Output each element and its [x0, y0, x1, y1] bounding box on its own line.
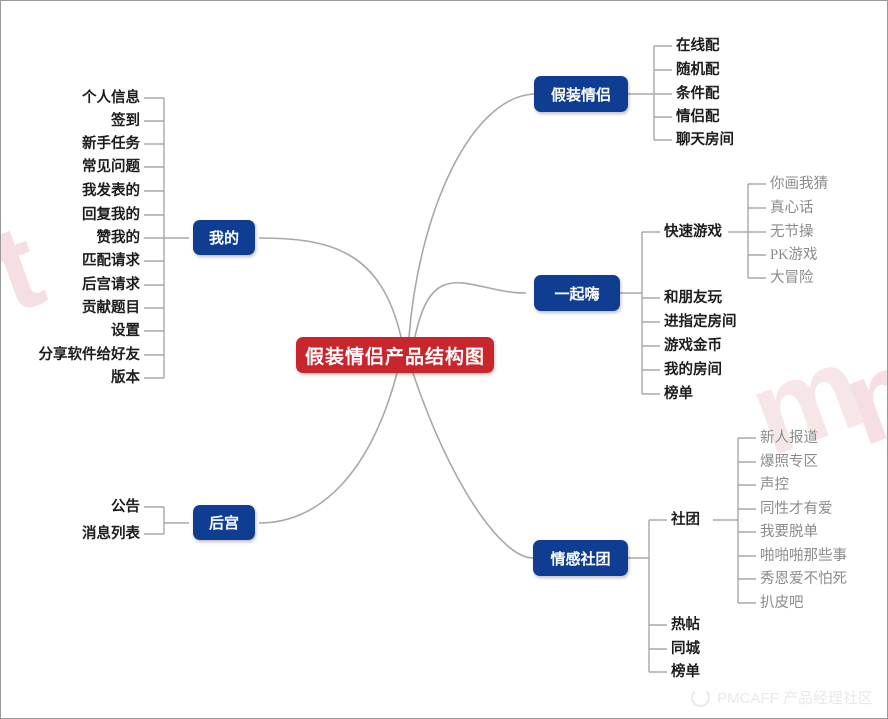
leaf-item[interactable]: 后宫请求: [82, 278, 140, 293]
sub-leaf-item[interactable]: 秀恩爱不怕死: [760, 572, 847, 587]
leaf-item[interactable]: 社团: [671, 513, 700, 528]
circle-logo-icon: [691, 688, 710, 707]
leaf-item[interactable]: 榜单: [664, 387, 693, 402]
leaf-item[interactable]: 签到: [111, 114, 140, 129]
leaf-item[interactable]: 个人信息: [82, 91, 140, 106]
leaf-item[interactable]: 我发表的: [82, 184, 140, 199]
leaf-item[interactable]: 设置: [111, 324, 140, 339]
sub-leaf-item[interactable]: PK游戏: [770, 248, 818, 263]
sub-leaf-item[interactable]: 爆照专区: [760, 455, 818, 470]
leaf-item[interactable]: 游戏金币: [664, 339, 722, 354]
leaf-item[interactable]: 进指定房间: [664, 315, 737, 330]
sub-leaf-item[interactable]: 大冒险: [770, 271, 814, 286]
sub-leaf-item[interactable]: 同性才有爱: [760, 502, 833, 517]
leaf-item[interactable]: 条件配: [676, 87, 720, 102]
branch-node-hougong[interactable]: 后宫: [193, 505, 255, 540]
leaf-item[interactable]: 常见问题: [82, 160, 140, 175]
sub-leaf-item[interactable]: 我要脱单: [760, 525, 818, 540]
leaf-item[interactable]: 同城: [671, 642, 700, 657]
leaf-item[interactable]: 版本: [111, 371, 140, 386]
branch-node-label: 情感社团: [550, 548, 610, 569]
leaf-item[interactable]: 聊天房间: [676, 133, 734, 148]
leaf-item[interactable]: 随机配: [676, 63, 720, 78]
leaf-item[interactable]: 匹配请求: [82, 254, 140, 269]
leaf-item[interactable]: 消息列表: [82, 527, 140, 542]
leaf-item[interactable]: 分享软件给好友: [39, 348, 141, 363]
leaf-item[interactable]: 贡献题目: [82, 301, 140, 316]
branch-node-label: 我的: [209, 227, 239, 248]
branch-node-label: 一起嗨: [554, 283, 599, 304]
branch-node-label: 假装情侣: [551, 84, 611, 105]
leaf-item[interactable]: 快速游戏: [664, 225, 722, 240]
sub-leaf-item[interactable]: 啪啪啪那些事: [760, 549, 847, 564]
branch-node-wode[interactable]: 我的: [193, 220, 255, 255]
footer-brand: PMCAFF 产品经理社区: [691, 687, 873, 708]
leaf-item[interactable]: 回复我的: [82, 208, 140, 223]
branch-node-qingganshetuan[interactable]: 情感社团: [533, 540, 628, 576]
footer-brand-label: PMCAFF 产品经理社区: [717, 687, 873, 708]
mindmap-canvas: t m m: [0, 0, 888, 719]
sub-leaf-item[interactable]: 无节操: [770, 225, 814, 240]
branch-node-label: 后宫: [209, 512, 239, 533]
sub-leaf-item[interactable]: 你画我猜: [770, 177, 828, 192]
leaf-item[interactable]: 榜单: [671, 665, 700, 680]
sub-leaf-item[interactable]: 新人报道: [760, 431, 818, 446]
branch-node-jiazhuangqinglv[interactable]: 假装情侣: [534, 76, 628, 112]
root-node-label: 假装情侣产品结构图: [305, 342, 485, 369]
leaf-item[interactable]: 和朋友玩: [664, 291, 722, 306]
leaf-item[interactable]: 新手任务: [82, 137, 140, 152]
sub-leaf-item[interactable]: 声控: [760, 478, 789, 493]
sub-leaf-item[interactable]: 真心话: [770, 201, 814, 216]
leaf-item[interactable]: 公告: [111, 500, 140, 515]
leaf-item[interactable]: 热帖: [671, 618, 700, 633]
leaf-item[interactable]: 在线配: [676, 39, 720, 54]
branch-node-yiqihai[interactable]: 一起嗨: [534, 275, 620, 311]
root-node[interactable]: 假装情侣产品结构图: [296, 337, 494, 373]
sub-leaf-item[interactable]: 扒皮吧: [760, 596, 804, 611]
leaf-item[interactable]: 我的房间: [664, 363, 722, 378]
leaf-item[interactable]: 情侣配: [676, 110, 720, 125]
leaf-item[interactable]: 赞我的: [97, 231, 141, 246]
